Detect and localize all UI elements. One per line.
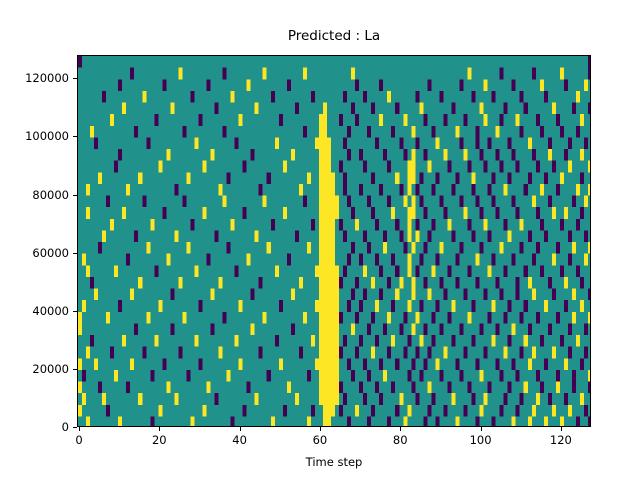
y-tick-label: 120000: [25, 72, 69, 84]
x-tick-label: 60: [300, 433, 340, 447]
heatmap-axes[interactable]: [77, 55, 591, 427]
x-tick-mark: [561, 427, 562, 431]
x-tick-label: 120: [541, 433, 581, 447]
y-tick-mark: [73, 427, 77, 428]
y-tick-label: 100000: [25, 130, 69, 142]
x-tick-mark: [240, 427, 241, 431]
x-tick-label: 80: [380, 433, 420, 447]
y-tick-label: 0: [62, 421, 69, 433]
y-tick-label: 60000: [32, 247, 69, 259]
x-tick-label: 100: [461, 433, 501, 447]
x-tick-label: 40: [220, 433, 260, 447]
x-tick-label: 0: [59, 433, 99, 447]
y-tick-label: 80000: [32, 189, 69, 201]
x-tick-mark: [159, 427, 160, 431]
page-title: Predicted : La: [77, 26, 591, 46]
x-tick-mark: [481, 427, 482, 431]
matplotlib-figure: Predicted : La Frequency (Hz) 0200004000…: [0, 0, 640, 480]
x-axis-label: Time step: [77, 455, 591, 469]
x-tick-mark: [320, 427, 321, 431]
x-tick-mark: [79, 427, 80, 431]
y-tick-label: 20000: [32, 363, 69, 375]
y-tick-label: 40000: [32, 305, 69, 317]
x-tick-label: 20: [139, 433, 179, 447]
heatmap-image: [78, 56, 591, 427]
x-tick-mark: [400, 427, 401, 431]
